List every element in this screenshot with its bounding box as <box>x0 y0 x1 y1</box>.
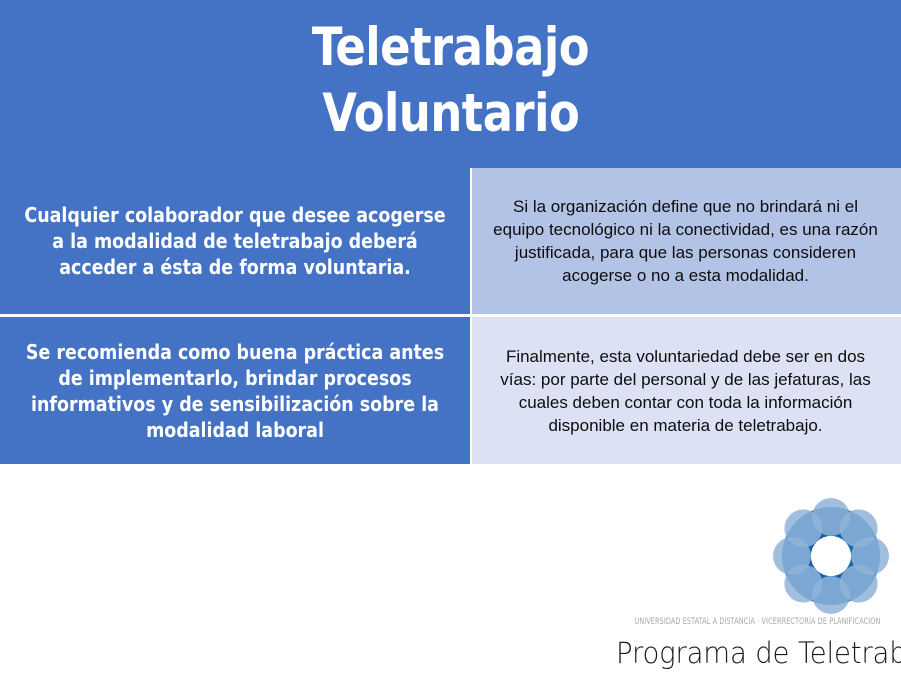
logo-wordmark: Programa de Teletrabajo <box>616 634 901 672</box>
table-row: Cualquier colaborador que desee acogerse… <box>0 168 901 314</box>
logo-block: UNIVERSIDAD ESTATAL A DISTANCIA · VICERR… <box>601 494 901 688</box>
table-cell-right-1-text: Si la organización define que no brindar… <box>486 195 885 287</box>
table-row: Se recomienda como buena práctica antes … <box>0 317 901 464</box>
content-table: Cualquier colaborador que desee acogerse… <box>0 168 901 464</box>
uned-ring-logo-icon <box>771 496 891 616</box>
table-column-divider <box>470 168 472 464</box>
page-title-line-1: Teletrabajo <box>312 15 589 81</box>
table-cell-left-2: Se recomienda como buena práctica antes … <box>0 317 470 464</box>
table-cell-left-1: Cualquier colaborador que desee acogerse… <box>0 168 470 314</box>
slide-canvas: Teletrabajo Voluntario Cualquier colabor… <box>0 0 901 688</box>
table-cell-left-2-text: Se recomienda como buena práctica antes … <box>21 339 450 443</box>
table-cell-right-2: Finalmente, esta voluntariedad debe ser … <box>470 317 901 464</box>
title-banner: Teletrabajo Voluntario <box>0 0 901 168</box>
table-cell-right-2-text: Finalmente, esta voluntariedad debe ser … <box>486 345 885 437</box>
logo-caption: UNIVERSIDAD ESTATAL A DISTANCIA · VICERR… <box>634 616 869 628</box>
page-title-line-2: Voluntario <box>322 81 579 147</box>
table-cell-left-1-text: Cualquier colaborador que desee acogerse… <box>21 202 450 280</box>
table-cell-right-1: Si la organización define que no brindar… <box>470 168 901 314</box>
